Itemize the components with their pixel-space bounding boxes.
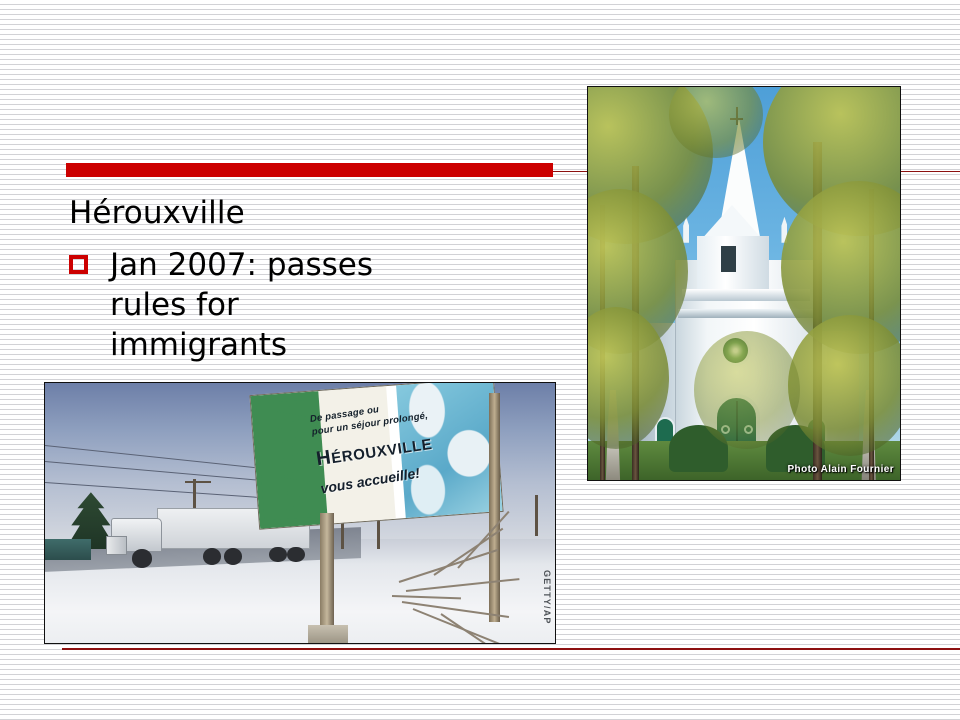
utility-pole-3 — [377, 518, 380, 549]
page-title: Hérouxville — [69, 195, 245, 231]
truck-grill — [106, 536, 126, 554]
roadside-shed — [45, 539, 91, 560]
herouxville-sign-photo: De passage ou pour un séjour prolongé, H… — [44, 382, 556, 644]
photo-credit-church: Photo Alain Fournier — [787, 464, 894, 475]
truck-wheel-5 — [287, 547, 304, 563]
billboard-post — [320, 513, 333, 643]
utility-crossarm — [185, 481, 211, 483]
truck-wheel-4 — [269, 547, 286, 563]
branch-6 — [440, 613, 516, 644]
welcome-billboard: De passage ou pour un séjour prolongé, H… — [249, 382, 503, 530]
truck-wheel-1 — [132, 549, 152, 567]
header-red-bar — [66, 163, 553, 177]
utility-pole-4 — [535, 495, 538, 537]
branch-7 — [392, 595, 461, 599]
truck-wheel-3 — [224, 548, 242, 565]
bullet-item-label: Jan 2007: passes rules for immigrants — [110, 245, 378, 365]
branch-2 — [406, 578, 520, 592]
square-bullet-icon — [69, 255, 88, 274]
foliage-center-overlay — [694, 331, 800, 449]
dead-shrub — [382, 555, 555, 643]
getty-watermark: GETTY/AP — [542, 570, 552, 625]
slide-canvas: Hérouxville Jan 2007: passes rules for i… — [0, 0, 960, 720]
belfry-opening — [721, 246, 737, 272]
bullet-list-item: Jan 2007: passes rules for immigrants — [69, 245, 389, 365]
billboard-concrete-footing — [308, 625, 349, 643]
branch-3 — [402, 601, 509, 618]
footer-rule — [62, 648, 960, 650]
church-photo: Photo Alain Fournier — [587, 86, 901, 481]
